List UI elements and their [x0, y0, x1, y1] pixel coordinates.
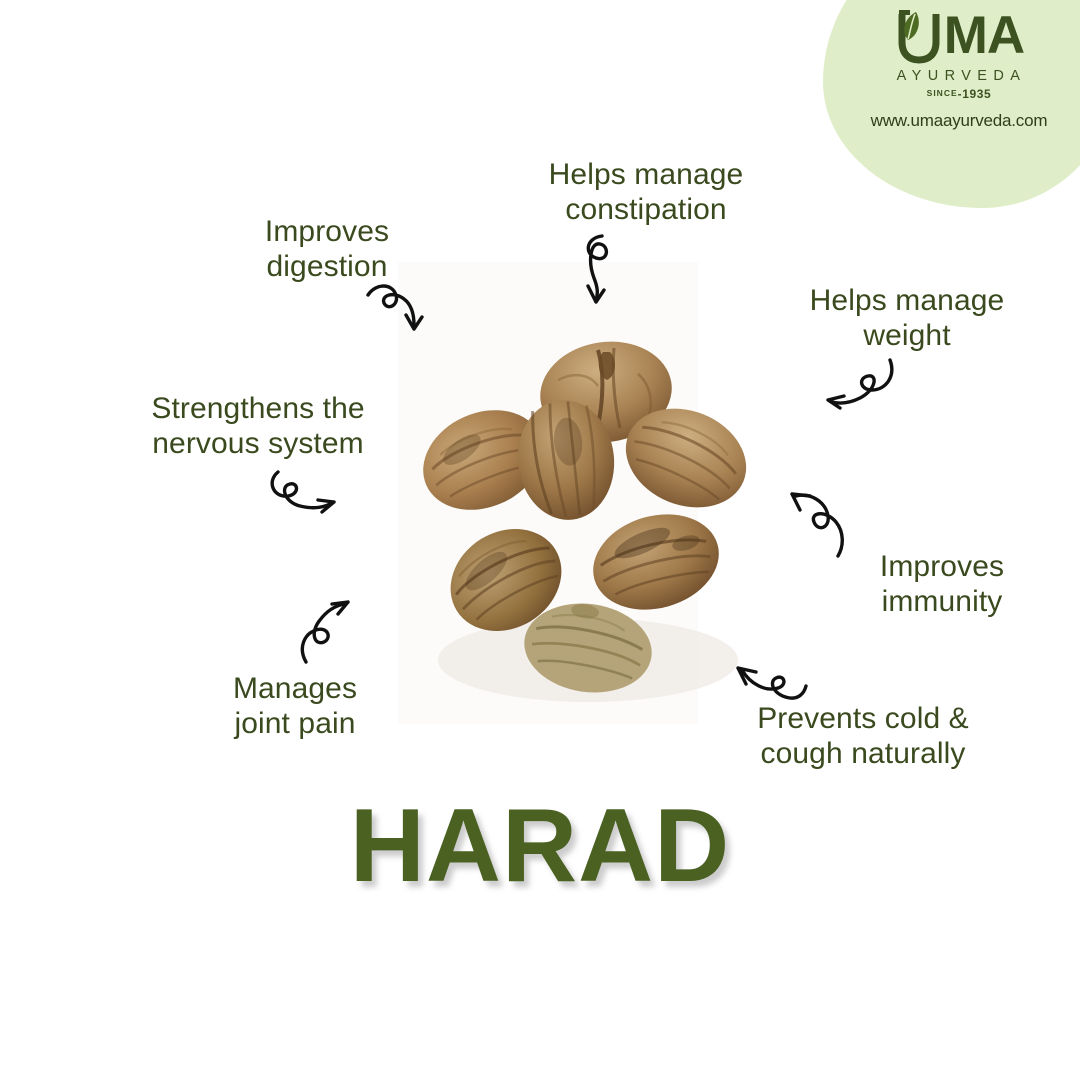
benefit-label-immunity: Improves immunity [852, 550, 1032, 619]
benefit-label-constipation: Helps manage constipation [516, 158, 776, 227]
logo-ma-text: MA [944, 8, 1024, 64]
since-label: SINCE [927, 88, 958, 98]
curly-arrow-right-icon [268, 468, 340, 520]
curly-arrow-up-left-icon [786, 488, 858, 560]
brand-name: AYURVEDA [844, 68, 1074, 84]
brand-website[interactable]: www.umaayurveda.com [844, 111, 1074, 131]
brand-logo-group: MA AYURVEDA SINCE-1935 www.umaayurveda.c… [844, 8, 1074, 131]
brand-since: SINCE-1935 [844, 87, 1074, 101]
product-photo [398, 330, 778, 730]
curly-arrow-up-right-icon [298, 598, 360, 666]
benefit-label-cold-cough: Prevents cold & cough naturally [728, 702, 998, 771]
benefit-label-weight: Helps manage weight [792, 284, 1022, 353]
product-title: HARAD [0, 787, 1080, 906]
logo-wordmark: MA [844, 8, 1074, 66]
infographic-canvas: MA AYURVEDA SINCE-1935 www.umaayurveda.c… [0, 0, 1080, 1080]
leaf-u-icon [894, 8, 944, 64]
since-year: -1935 [958, 87, 992, 101]
curly-arrow-left-icon [736, 666, 810, 712]
curly-arrow-down-left-icon [824, 356, 898, 412]
benefit-label-digestion: Improves digestion [232, 215, 422, 284]
curly-arrow-down-right-icon [366, 281, 430, 333]
benefit-label-nervous-system: Strengthens the nervous system [128, 392, 388, 461]
benefit-label-joint-pain: Manages joint pain [200, 672, 390, 741]
curly-arrow-down-icon [570, 232, 626, 304]
